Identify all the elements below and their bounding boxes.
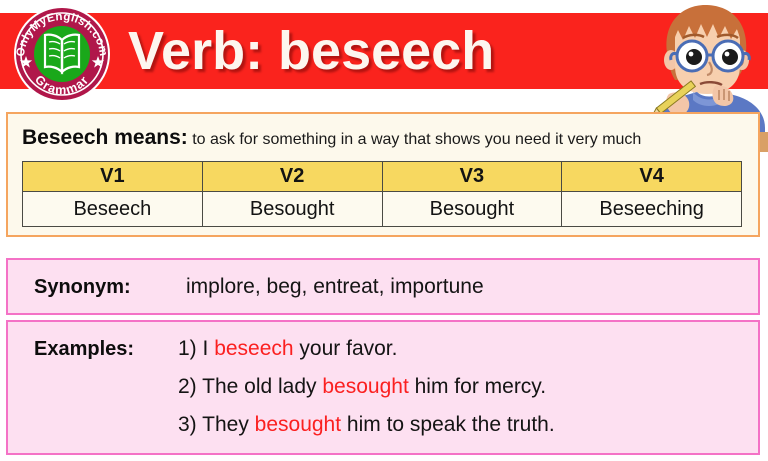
- example-highlight: besought: [322, 375, 408, 398]
- page-title: Verb: beseech: [128, 16, 648, 88]
- example-suffix: him for mercy.: [409, 375, 546, 398]
- example-highlight: besought: [255, 413, 341, 436]
- cell-v4: Beseeching: [562, 192, 742, 227]
- table-header-row: V1 V2 V3 V4: [23, 162, 742, 192]
- open-book-icon: OnlyMyEnglish.com Grammar: [12, 4, 112, 104]
- column-header-v3: V3: [382, 162, 562, 192]
- examples-list: 1) I beseech your favor. 2) The old lady…: [178, 330, 738, 444]
- cell-v3: Besought: [382, 192, 562, 227]
- list-item: 3) They besought him to speak the truth.: [178, 406, 738, 444]
- list-item: 1) I beseech your favor.: [178, 330, 738, 368]
- example-prefix: 2) The old lady: [178, 375, 322, 398]
- column-header-v4: V4: [562, 162, 742, 192]
- example-highlight: beseech: [214, 337, 293, 360]
- column-header-v1: V1: [23, 162, 203, 192]
- header: OnlyMyEnglish.com Grammar Verb: beseech: [0, 0, 768, 110]
- examples-box: Examples: 1) I beseech your favor. 2) Th…: [6, 320, 760, 455]
- definition-panel: Beseech means: to ask for something in a…: [6, 112, 760, 237]
- cell-v2: Besought: [202, 192, 382, 227]
- example-suffix: him to speak the truth.: [341, 413, 555, 436]
- table-row: Beseech Besought Besought Beseeching: [23, 192, 742, 227]
- synonym-label: Synonym:: [34, 276, 131, 299]
- synonym-box: Synonym: implore, beg, entreat, importun…: [6, 258, 760, 315]
- example-suffix: your favor.: [294, 337, 398, 360]
- definition-label: Beseech means:: [22, 126, 188, 149]
- definition-text: to ask for something in a way that shows…: [192, 131, 641, 148]
- definition-row: Beseech means: to ask for something in a…: [22, 122, 641, 154]
- list-item: 2) The old lady besought him for mercy.: [178, 368, 738, 406]
- verb-forms-table: V1 V2 V3 V4 Beseech Besought Besought Be…: [22, 161, 742, 227]
- example-prefix: 1) I: [178, 337, 214, 360]
- cell-v1: Beseech: [23, 192, 203, 227]
- infographic-page: OnlyMyEnglish.com Grammar Verb: beseech: [0, 0, 768, 461]
- site-logo: OnlyMyEnglish.com Grammar: [12, 4, 112, 104]
- synonym-value: implore, beg, entreat, importune: [186, 275, 484, 299]
- example-prefix: 3) They: [178, 413, 255, 436]
- examples-label: Examples:: [34, 338, 134, 361]
- column-header-v2: V2: [202, 162, 382, 192]
